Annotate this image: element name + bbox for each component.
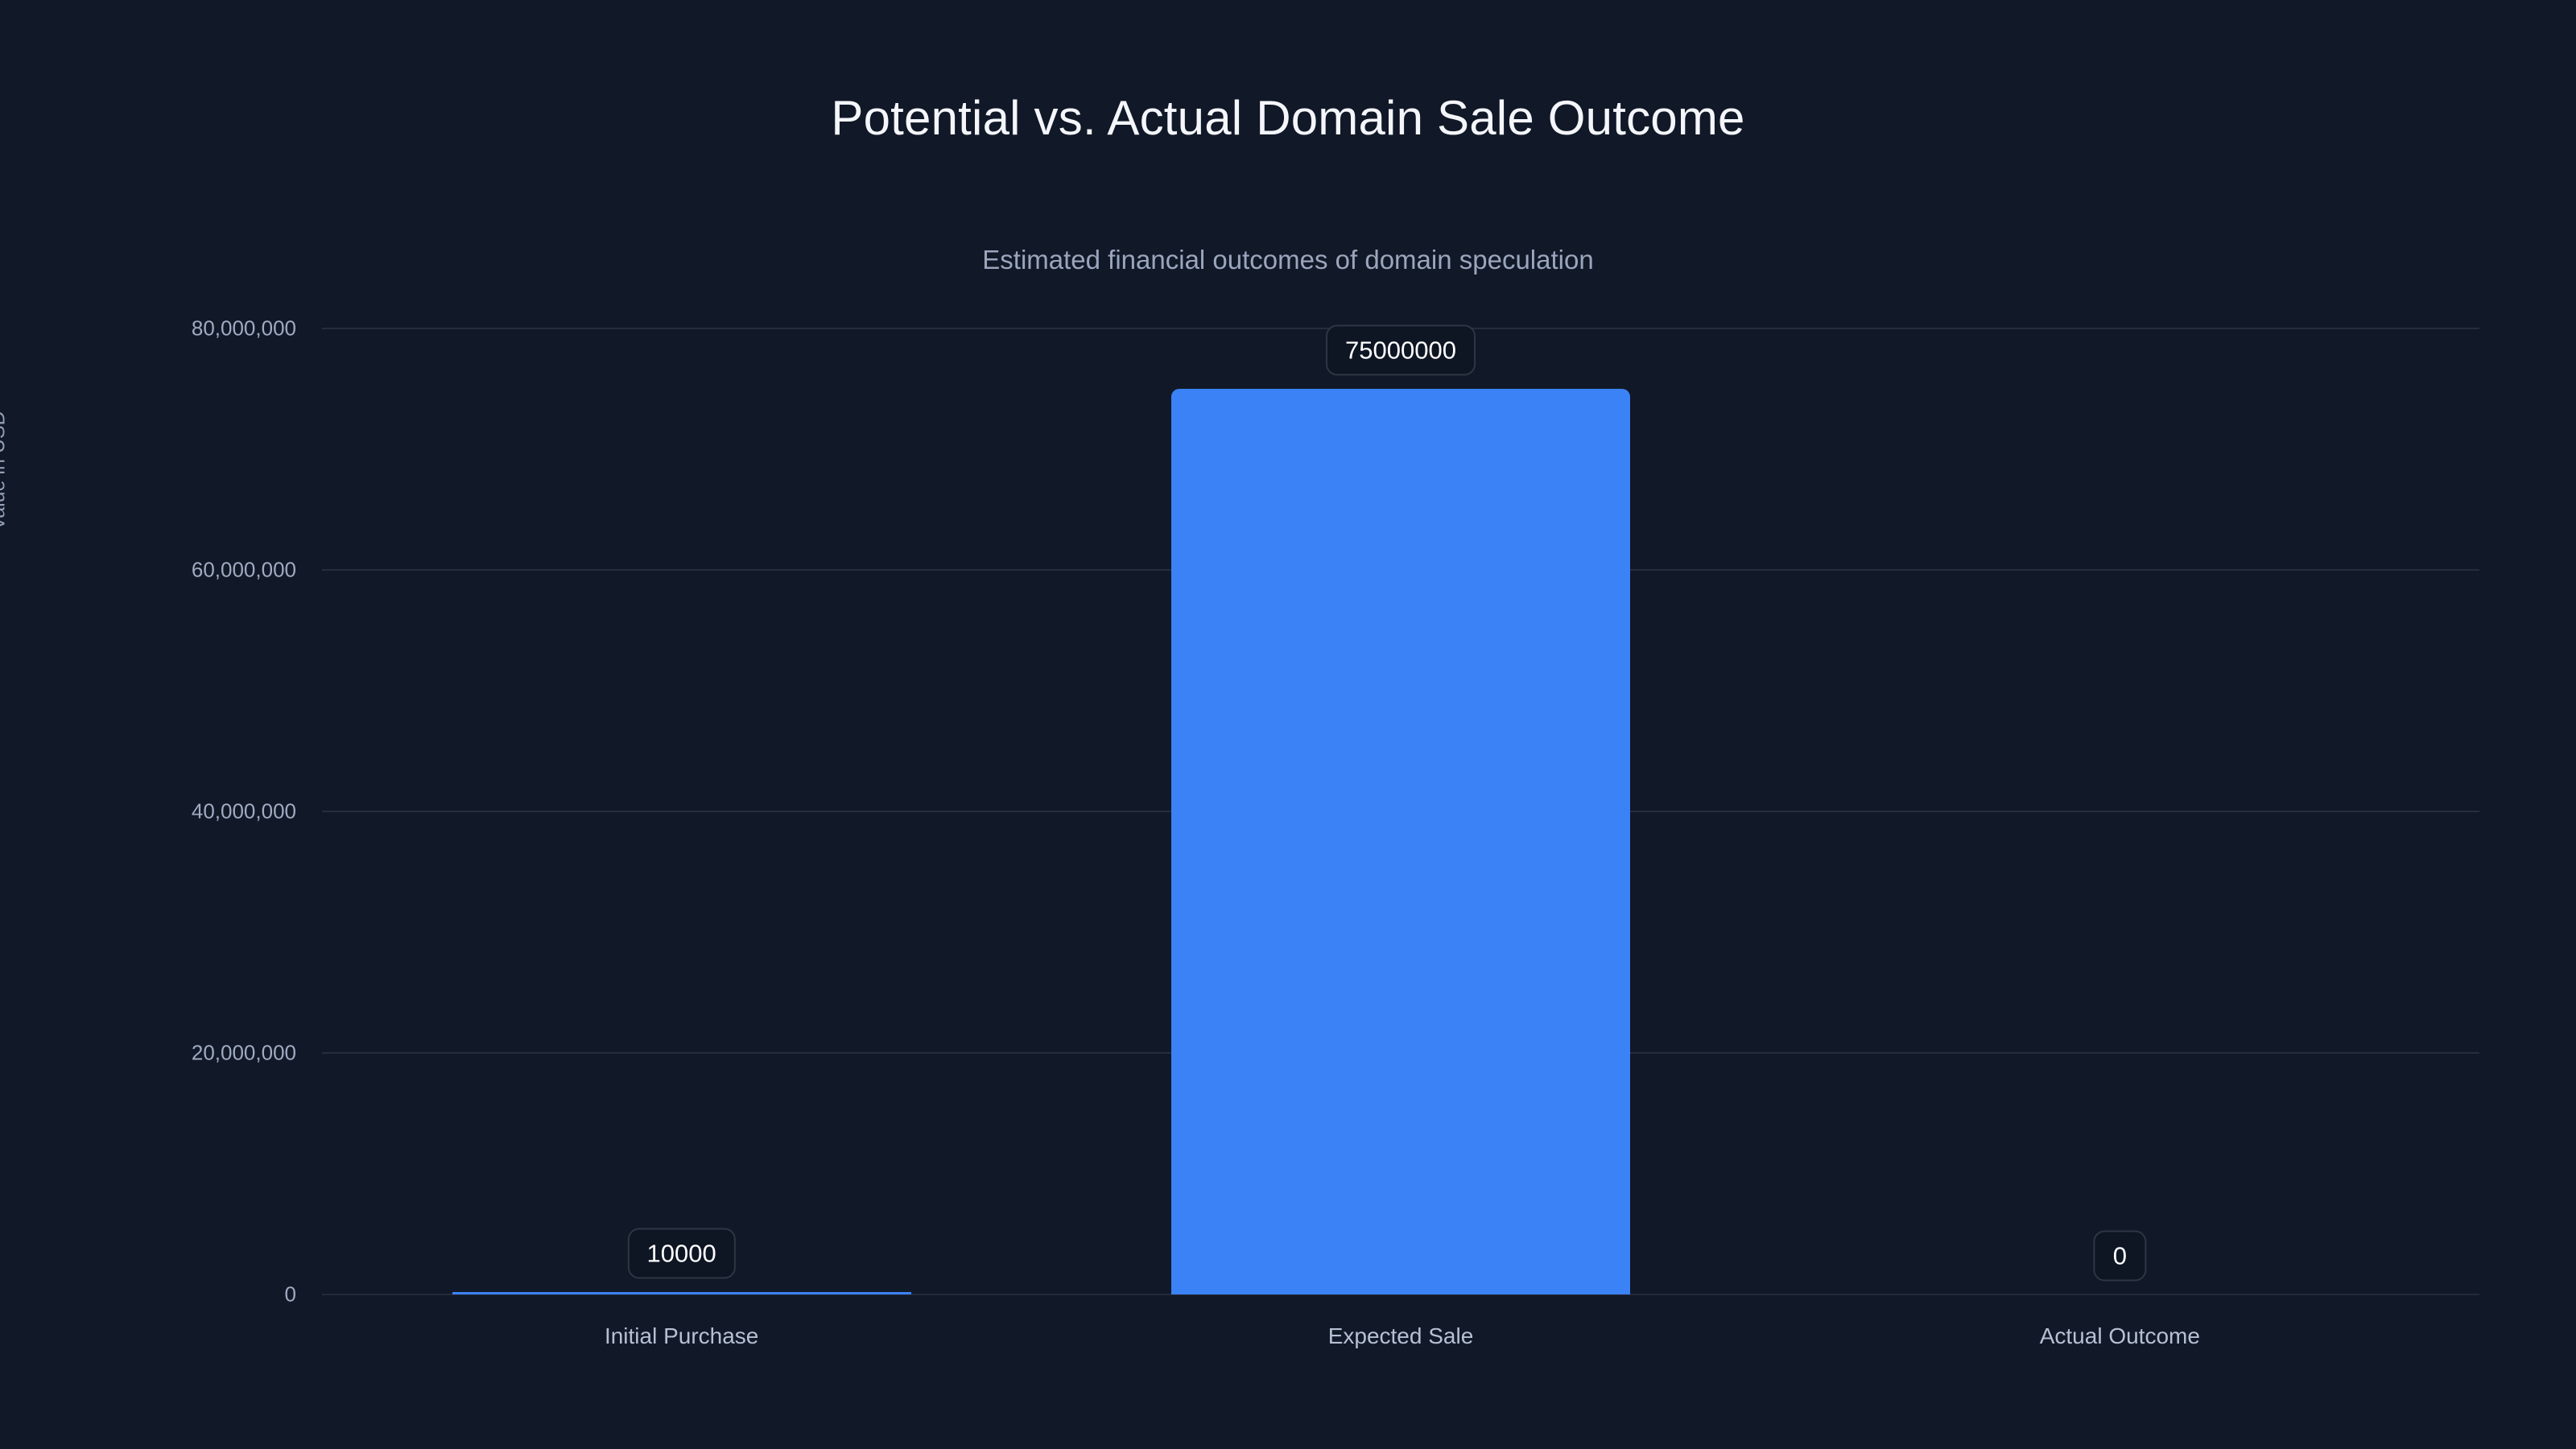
y-axis-tick-label: 40,000,000 bbox=[0, 799, 296, 824]
bar-value-label: 0 bbox=[2094, 1231, 2146, 1282]
y-axis-tick-label: 80,000,000 bbox=[0, 316, 296, 341]
x-axis-tick-label: Actual Outcome bbox=[2040, 1323, 2200, 1349]
plot-area: 020,000,00040,000,00060,000,00080,000,00… bbox=[322, 328, 2479, 1294]
chart-title: Potential vs. Actual Domain Sale Outcome bbox=[0, 90, 2576, 146]
x-axis-tick-label: Initial Purchase bbox=[605, 1323, 758, 1349]
bar-value-label: 10000 bbox=[628, 1228, 736, 1279]
y-axis-tick-label: 20,000,000 bbox=[0, 1041, 296, 1066]
y-axis-tick-label: 60,000,000 bbox=[0, 558, 296, 583]
y-axis-tick-label: 0 bbox=[0, 1282, 296, 1307]
bar[interactable] bbox=[452, 1292, 911, 1294]
bar-value-label: 75000000 bbox=[1326, 325, 1476, 376]
bar[interactable] bbox=[1171, 389, 1630, 1294]
chart-subtitle: Estimated financial outcomes of domain s… bbox=[0, 245, 2576, 275]
x-axis-tick-label: Expected Sale bbox=[1328, 1323, 1474, 1349]
bar-chart: Potential vs. Actual Domain Sale Outcome… bbox=[0, 0, 2576, 1449]
